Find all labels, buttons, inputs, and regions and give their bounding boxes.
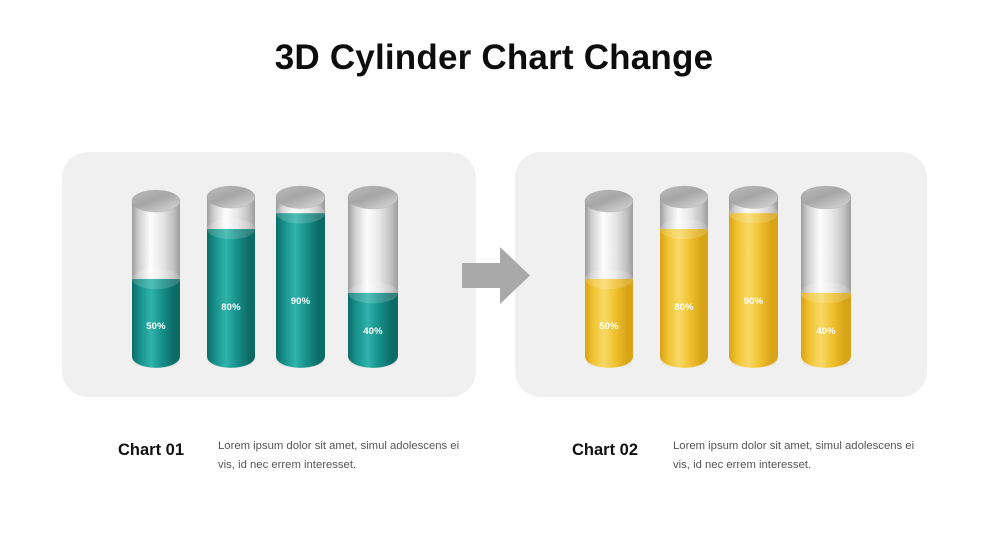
chart-02-title: Chart 02 [572,441,638,460]
slide-canvas: 3D Cylinder Chart Change [0,0,988,556]
chart-01-panel [62,152,476,397]
arrow-right-icon [462,247,530,304]
chart-01-description: Lorem ipsum dolor sit amet, simul adoles… [218,437,468,474]
page-title: 3D Cylinder Chart Change [0,38,988,78]
chart-02-description: Lorem ipsum dolor sit amet, simul adoles… [673,437,923,474]
chart-02-panel [515,152,927,397]
chart-01-title: Chart 01 [118,441,184,460]
